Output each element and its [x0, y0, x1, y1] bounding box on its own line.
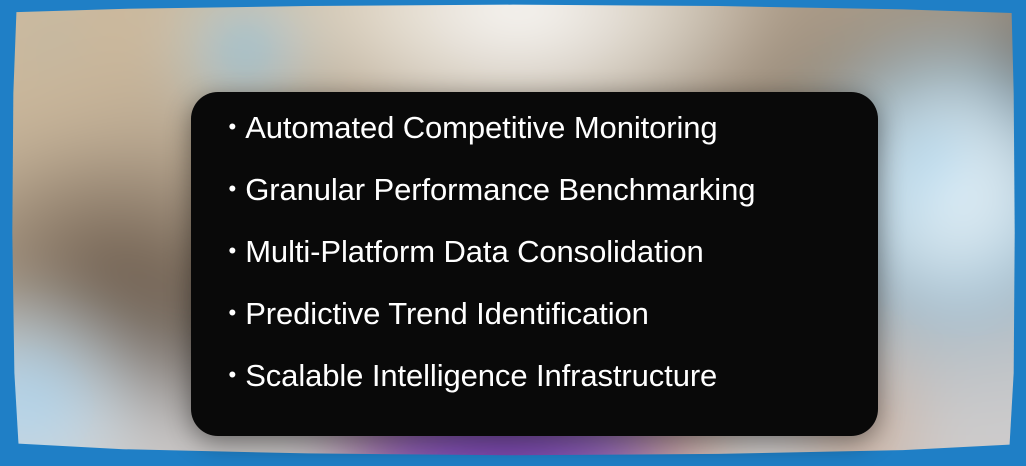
- bullet-list: • Automated Competitive Monitoring • Gra…: [191, 92, 878, 436]
- bullet-label: Automated Competitive Monitoring: [245, 111, 717, 145]
- list-item: • Predictive Trend Identification: [191, 297, 878, 359]
- list-item: • Granular Performance Benchmarking: [191, 173, 878, 235]
- bullet-label: Granular Performance Benchmarking: [245, 173, 755, 207]
- bullet-label: Predictive Trend Identification: [245, 297, 649, 331]
- bullet-label: Scalable Intelligence Infrastructure: [245, 359, 717, 393]
- list-item: • Scalable Intelligence Infrastructure: [191, 359, 878, 421]
- bullet-dot-icon: •: [229, 302, 237, 324]
- list-item: • Multi-Platform Data Consolidation: [191, 235, 878, 297]
- bullet-dot-icon: •: [229, 364, 237, 386]
- bullet-card: • Automated Competitive Monitoring • Gra…: [191, 92, 878, 436]
- bullet-dot-icon: •: [229, 240, 237, 262]
- bullet-dot-icon: •: [229, 116, 237, 138]
- list-item: • Automated Competitive Monitoring: [191, 111, 878, 173]
- bullet-label: Multi-Platform Data Consolidation: [245, 235, 703, 269]
- bullet-dot-icon: •: [229, 178, 237, 200]
- slide-canvas: • Automated Competitive Monitoring • Gra…: [0, 0, 1026, 466]
